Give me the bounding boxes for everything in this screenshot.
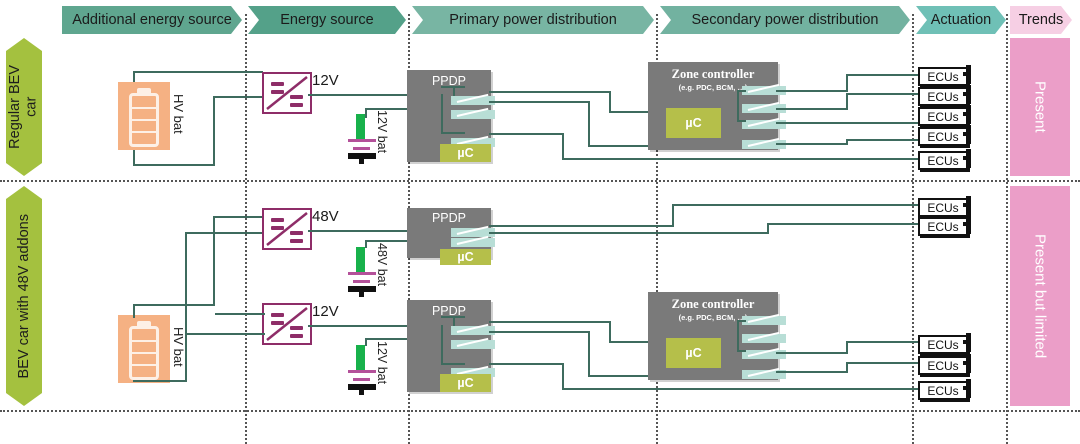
wire-hvbat-48v-riser bbox=[213, 216, 215, 306]
converter-dc-bar bbox=[271, 90, 284, 94]
wire-hvbat-top-row1 bbox=[133, 71, 263, 73]
wire-hvbat-48v-top bbox=[213, 216, 265, 218]
wire-zone-out2-v-row1 bbox=[846, 93, 848, 110]
wire-ppdp-internal-h1-row1 bbox=[441, 132, 465, 134]
ppdp-block-row1: PPDP µC bbox=[407, 70, 491, 162]
trend-badge-row2: Present but limited bbox=[1010, 186, 1070, 406]
wire-zone2-out1b-row2 bbox=[846, 341, 920, 343]
wire-hvbat-return-v-row1 bbox=[213, 96, 215, 166]
wire-ppdp-out1-v-row1 bbox=[609, 91, 611, 113]
wire-zone-bus-h2-row1 bbox=[737, 120, 746, 122]
header-primary-power-distribution: Primary power distribution bbox=[412, 6, 654, 34]
zone-controller-switch bbox=[742, 334, 786, 343]
wire-zone-out2-row1 bbox=[776, 108, 848, 110]
header-trends: Trends bbox=[1010, 6, 1072, 34]
ecu-row1-4: ECUs bbox=[918, 127, 968, 146]
lv-battery-48v-row2: 48V bat bbox=[348, 245, 390, 293]
header-actuation: Actuation bbox=[916, 6, 1006, 34]
ecu-row2-bottom-2: ECUs bbox=[918, 356, 968, 375]
wire-hvbat-up-h-row2 bbox=[133, 304, 215, 306]
wire-lvbat48-h-row2 bbox=[365, 240, 413, 242]
dcdc-converter-12v-row2 bbox=[262, 303, 312, 345]
battery-plate-positive bbox=[348, 370, 376, 373]
header-label: Additional energy source bbox=[72, 12, 232, 28]
dcdc-converter-48v-row2 bbox=[262, 208, 312, 250]
wire-dcdc48-to-ppdp-row2 bbox=[308, 230, 413, 232]
wire-ppdp-top-out1-row2 bbox=[489, 225, 674, 227]
ecu-row1-2: ECUs bbox=[918, 87, 968, 106]
battery-fuse-icon bbox=[356, 247, 365, 273]
ecu-label: ECUs bbox=[927, 384, 958, 398]
header-label: Primary power distribution bbox=[449, 12, 617, 28]
row-divider-1 bbox=[0, 180, 1080, 182]
zone-controller-switch bbox=[742, 316, 786, 325]
wire-dcdc12-in2-row2 bbox=[187, 333, 265, 335]
converter-dc-bar bbox=[290, 103, 303, 107]
diagram-canvas: Additional energy source Energy source P… bbox=[0, 0, 1080, 444]
wire-hvbat-up-v-row2 bbox=[133, 304, 135, 318]
ecu-label: ECUs bbox=[927, 110, 958, 124]
wire-zone-bus-v-row1 bbox=[737, 90, 739, 122]
ecu-row2-top-1: ECUs bbox=[918, 198, 968, 217]
ecu-connector-tip bbox=[963, 156, 971, 160]
header-label: Trends bbox=[1019, 12, 1064, 28]
ecu-row2-bottom-1: ECUs bbox=[918, 335, 968, 354]
lv-battery-12v-row2: 12V bat bbox=[348, 343, 390, 391]
column-divider-4 bbox=[912, 14, 914, 444]
converter-dc-bar bbox=[271, 218, 284, 222]
wire-ppdp2-out3-row2 bbox=[489, 363, 564, 365]
battery-level-bar bbox=[132, 107, 156, 109]
lv-battery-label-48v-row2: 48V bat bbox=[375, 243, 389, 286]
ecu-connector-tip bbox=[963, 222, 971, 226]
ppdp-microcontroller-bottom-row2: µC bbox=[440, 374, 491, 392]
hv-battery-row1: HV bat bbox=[118, 82, 170, 150]
wire-hvbat-bottom-row1 bbox=[133, 164, 215, 166]
battery-fuse-icon bbox=[356, 114, 365, 140]
wire-zone-out1b-row1 bbox=[846, 74, 920, 76]
ecu-row1-5: ECUs bbox=[918, 151, 968, 170]
wire-hvbat-bottom-v-row2 bbox=[133, 380, 135, 382]
trend-label: Present but limited bbox=[1032, 234, 1049, 358]
wire-hvbat-48v-riser2 bbox=[185, 232, 187, 380]
ppdp-switch bbox=[451, 238, 495, 247]
wire-hvbat-bottom-row2 bbox=[133, 380, 187, 382]
header-label: Secondary power distribution bbox=[692, 12, 879, 28]
wire-zone-out4-row1 bbox=[776, 143, 848, 145]
wire-zone-out1-v-row1 bbox=[846, 74, 848, 92]
zone-controller-title-row1: Zone controller bbox=[648, 67, 778, 82]
wire-dcdc12-to-ppdp-row2 bbox=[308, 325, 420, 327]
battery-fuse-icon bbox=[356, 345, 365, 371]
ecu-connector-tip bbox=[963, 112, 971, 116]
wire-ppdp-out2-row1 bbox=[489, 101, 590, 103]
header-additional-energy-source: Additional energy source bbox=[62, 6, 242, 34]
ecu-connector-tip bbox=[963, 92, 971, 96]
battery-level-bar bbox=[132, 131, 156, 133]
ecu-connector-tip bbox=[963, 72, 971, 76]
wire-ppdp-top-out2b-row2 bbox=[767, 223, 920, 225]
battery-plate-negative bbox=[353, 147, 370, 150]
converter-dc-bar bbox=[290, 239, 303, 243]
converter-dc-bar bbox=[271, 226, 284, 230]
zone-controller-block-row1: Zone controller (e.g. PDC, BCM, …) µC bbox=[648, 62, 778, 150]
header-energy-source: Energy source bbox=[248, 6, 406, 34]
voltage-label-12v-row2: 12V bbox=[312, 303, 339, 320]
wire-hvbat-return-row1 bbox=[213, 96, 265, 98]
ecu-label: ECUs bbox=[927, 359, 958, 373]
hv-battery-row2: HV bat bbox=[118, 315, 170, 383]
header-secondary-power-distribution: Secondary power distribution bbox=[660, 6, 910, 34]
battery-ground-stem bbox=[359, 384, 364, 395]
ppdp-block-top-row2: PPDP µC bbox=[407, 208, 491, 258]
wire-zone-out1-row1 bbox=[776, 90, 848, 92]
ecu-connector-tip bbox=[963, 340, 971, 344]
ecu-label: ECUs bbox=[927, 130, 958, 144]
row-divider-2 bbox=[0, 410, 1080, 412]
wire-ppdp-out2-v-row1 bbox=[588, 101, 590, 147]
row-label-regular-bev-car: Regular BEVcar bbox=[6, 38, 42, 176]
wire-ppdp2-internal-h2 bbox=[441, 316, 465, 318]
ppdp-microcontroller-row1: µC bbox=[440, 144, 491, 162]
wire-ppdp2-out1-v-row2 bbox=[609, 321, 611, 343]
wire-ppdp-top-out1-v-row2 bbox=[672, 204, 674, 227]
wire-ppdp-top-out1b-row2 bbox=[672, 204, 920, 206]
ecu-label: ECUs bbox=[927, 154, 958, 168]
zone-controller-microcontroller-row1: µC bbox=[666, 108, 721, 138]
wire-ppdp2-out2-v-row2 bbox=[588, 331, 590, 377]
zone-controller-microcontroller-row2: µC bbox=[666, 338, 721, 368]
converter-dc-bar bbox=[290, 231, 303, 235]
battery-plate-positive bbox=[348, 139, 376, 142]
wire-ppdp2-out1-row2 bbox=[489, 321, 611, 323]
wire-ppdp2-out2-row2 bbox=[489, 331, 590, 333]
row-label-text: BEV car with 48V addons bbox=[16, 214, 33, 378]
wire-zone-bus-h2-row2 bbox=[737, 350, 746, 352]
converter-dc-bar bbox=[290, 334, 303, 338]
lv-battery-label-row1: 12V bat bbox=[375, 110, 389, 153]
wire-zone2-out1-row2 bbox=[776, 352, 848, 354]
wire-zone2-out2-row2 bbox=[776, 371, 848, 373]
ecu-connector-tip bbox=[963, 386, 971, 390]
lv-battery-12v-row1: 12V bat bbox=[348, 112, 390, 160]
ppdp-switch bbox=[451, 340, 495, 349]
ecu-label: ECUs bbox=[927, 90, 958, 104]
wire-zone-out3-row1 bbox=[776, 122, 920, 124]
wire-ppdp2-out3-v-row2 bbox=[562, 363, 564, 390]
wire-ppdp-internal-v1-row1 bbox=[441, 94, 443, 134]
wire-ppdp2-internal-h1 bbox=[441, 363, 465, 365]
converter-dc-bar bbox=[271, 321, 284, 325]
ecu-row1-3: ECUs bbox=[918, 107, 968, 126]
wire-zone-bus-h1-row1 bbox=[737, 90, 746, 92]
converter-dc-bar bbox=[271, 82, 284, 86]
dcdc-converter-12v-row1 bbox=[262, 72, 312, 114]
header-label: Energy source bbox=[280, 12, 374, 28]
wire-zone-out4b-row1 bbox=[846, 139, 920, 141]
converter-dc-bar bbox=[271, 313, 284, 317]
battery-ground-stem bbox=[359, 153, 364, 164]
ppdp-title-top-row2: PPDP bbox=[407, 211, 491, 225]
trend-label: Present bbox=[1032, 81, 1049, 133]
zone-controller-block-row2: Zone controller (e.g. PDC, BCM, …) µC bbox=[648, 292, 778, 380]
wire-zone-bus-h1-row2 bbox=[737, 320, 746, 322]
row-label-text: Regular BEVcar bbox=[7, 65, 40, 149]
battery-ground-stem bbox=[359, 286, 364, 297]
header-label: Actuation bbox=[931, 12, 991, 28]
voltage-label-12v-row1: 12V bbox=[312, 72, 339, 89]
wire-ppdp-out3-row1 bbox=[489, 133, 564, 135]
ppdp-microcontroller-top-row2: µC bbox=[440, 249, 491, 265]
hv-battery-label: HV bat bbox=[171, 327, 186, 367]
wire-ppdp-top-out2-row2 bbox=[489, 232, 769, 234]
battery-level-bar bbox=[132, 352, 156, 354]
battery-plate-positive bbox=[348, 272, 376, 275]
ecu-row2-bottom-3: ECUs bbox=[918, 381, 968, 400]
voltage-label-48v-row2: 48V bbox=[312, 208, 339, 225]
ecu-row1-1: ECUs bbox=[918, 67, 968, 86]
ecu-connector-tip bbox=[963, 361, 971, 365]
ecu-label: ECUs bbox=[927, 338, 958, 352]
wire-ppdp2-out3b-row2 bbox=[562, 388, 920, 390]
battery-plate-negative bbox=[353, 378, 370, 381]
ecu-label: ECUs bbox=[927, 220, 958, 234]
ecu-connector-tip bbox=[963, 203, 971, 207]
wire-dcdc-to-ppdp-row1 bbox=[308, 94, 420, 96]
ppdp-switch bbox=[451, 110, 495, 119]
battery-level-bar bbox=[132, 119, 156, 121]
ecu-label: ECUs bbox=[927, 201, 958, 215]
hv-battery-label: HV bat bbox=[171, 94, 186, 134]
wire-hvbat-48v-top2 bbox=[185, 232, 265, 234]
column-divider-1 bbox=[245, 14, 247, 444]
zone-controller-title-row2: Zone controller bbox=[648, 297, 778, 312]
wire-zone-out2b-row1 bbox=[846, 93, 920, 95]
ppdp-block-bottom-row2: PPDP µC bbox=[407, 300, 491, 392]
battery-level-bar bbox=[132, 340, 156, 342]
wire-ppdp-out1-row1 bbox=[489, 91, 611, 93]
wire-ppdp-internal-h2-row1 bbox=[441, 86, 465, 88]
wire-ppdp2-internal-v1 bbox=[441, 325, 443, 365]
row-label-bev-car-48v: BEV car with 48V addons bbox=[6, 186, 42, 406]
ecu-row2-top-2: ECUs bbox=[918, 217, 968, 236]
column-divider-5 bbox=[1006, 14, 1008, 444]
wire-ppdp-out3-v-row1 bbox=[562, 133, 564, 160]
ecu-connector-tip bbox=[963, 132, 971, 136]
battery-level-bar bbox=[132, 364, 156, 366]
wire-ppdp-out3b-row1 bbox=[562, 158, 920, 160]
battery-plate-negative bbox=[353, 280, 370, 283]
converter-dc-bar bbox=[290, 326, 303, 330]
converter-dc-bar bbox=[290, 95, 303, 99]
wire-dcdc12-in-row2 bbox=[215, 313, 265, 315]
wire-zone-bus-v-row2 bbox=[737, 320, 739, 352]
wire-zone2-out2b-row2 bbox=[846, 362, 920, 364]
lv-battery-label-12v-row2: 12V bat bbox=[375, 341, 389, 384]
ecu-label: ECUs bbox=[927, 70, 958, 84]
trend-badge-row1: Present bbox=[1010, 38, 1070, 176]
